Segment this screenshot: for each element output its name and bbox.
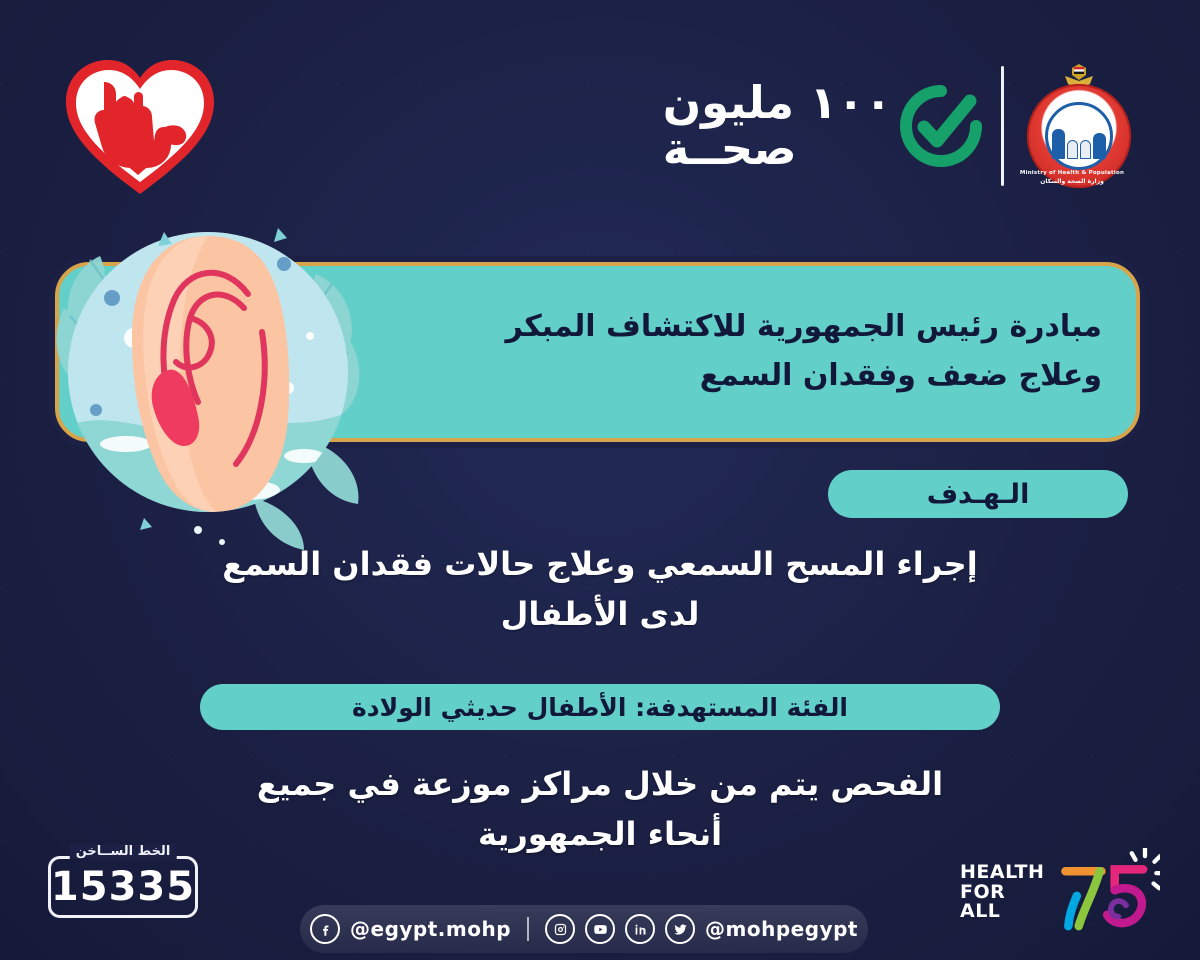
instagram-icon[interactable] — [545, 914, 575, 944]
who-75-health-for-all-logo: HEALTH FOR ALL — [960, 845, 1160, 940]
who-75-line2: FOR ALL — [960, 883, 1048, 922]
who-75-mark — [1056, 848, 1160, 938]
hotline-number: 15335 — [51, 867, 195, 907]
hotline-label: الخط الســاخن — [70, 844, 177, 859]
youtube-icon[interactable] — [585, 914, 615, 944]
social-media-bar: @egypt.mohp @mohpegypt — [300, 905, 868, 953]
green-check-circle-icon — [900, 85, 982, 167]
who-75-line1: HEALTH — [960, 863, 1048, 882]
hotline-block[interactable]: 15335 الخط الســاخن — [48, 856, 198, 918]
who-75-text: HEALTH FOR ALL — [960, 863, 1048, 921]
shared-social-handle[interactable]: @mohpegypt — [705, 917, 858, 941]
banner-title: مبادرة رئيس الجمهورية للاكتشاف المبكر وع… — [59, 303, 1136, 400]
social-separator — [527, 917, 529, 941]
heart-hand-logo — [60, 52, 220, 202]
linkedin-icon[interactable] — [625, 914, 655, 944]
target-group-pill: الفئة المستهدفة: الأطفال حديثي الولادة — [200, 684, 1000, 730]
header: Ministry of Health & Population وزارة ال… — [0, 0, 1200, 215]
title-banner: مبادرة رئيس الجمهورية للاكتشاف المبكر وع… — [55, 262, 1140, 442]
ministry-name-ar: وزارة الصحة والسكان — [1040, 178, 1104, 185]
ministry-name-en: Ministry of Health & Population — [1020, 170, 1124, 176]
campaign-logo-text: ١٠٠ مليون صحــة — [663, 81, 892, 171]
twitter-icon[interactable] — [665, 914, 695, 944]
goal-pill: الـهـدف — [828, 470, 1128, 518]
facebook-handle[interactable]: @egypt.mohp — [350, 917, 511, 941]
goal-text-line2: لدى الأطفال — [60, 590, 1140, 640]
target-group-label: الفئة المستهدفة: الأطفال حديثي الولادة — [352, 693, 848, 722]
goal-description: إجراء المسح السمعي وعلاج حالات فقدان الس… — [60, 540, 1140, 639]
campaign-logo-line2: صحــة — [663, 127, 797, 171]
ministry-logo-ring-text: Ministry of Health & Population وزارة ال… — [1020, 84, 1124, 188]
description-line1: الفحص يتم من خلال مراكز موزعة في جميع — [60, 760, 1140, 810]
hotline-box[interactable]: 15335 — [48, 856, 198, 918]
campaign-logo-line1: ١٠٠ مليون — [663, 81, 892, 125]
facebook-icon[interactable] — [310, 914, 340, 944]
goal-pill-label: الـهـدف — [927, 479, 1030, 510]
infographic-canvas: Ministry of Health & Population وزارة ال… — [0, 0, 1200, 960]
campaign-logo-100-million-health: ١٠٠ مليون صحــة — [663, 66, 982, 186]
ministry-of-health-logo: Ministry of Health & Population وزارة ال… — [1020, 62, 1138, 190]
goal-text-line1: إجراء المسح السمعي وعلاج حالات فقدان الس… — [60, 540, 1140, 590]
header-divider — [1001, 66, 1004, 186]
banner-title-line2: وعلاج ضعف وفقدان السمع — [359, 352, 1102, 401]
banner-title-line1: مبادرة رئيس الجمهورية للاكتشاف المبكر — [359, 303, 1102, 352]
